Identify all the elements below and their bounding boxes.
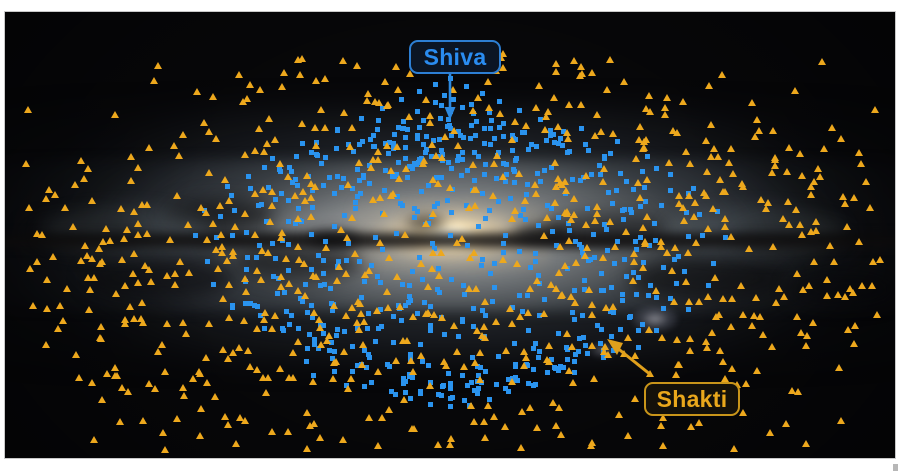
shiva-leader-line [5, 12, 895, 458]
shiva-callout-label[interactable]: Shiva [409, 40, 501, 74]
corner-resize-mark [893, 464, 898, 471]
milky-way-figure: Shiva Shakti [5, 12, 895, 458]
shakti-callout-label[interactable]: Shakti [644, 382, 740, 416]
